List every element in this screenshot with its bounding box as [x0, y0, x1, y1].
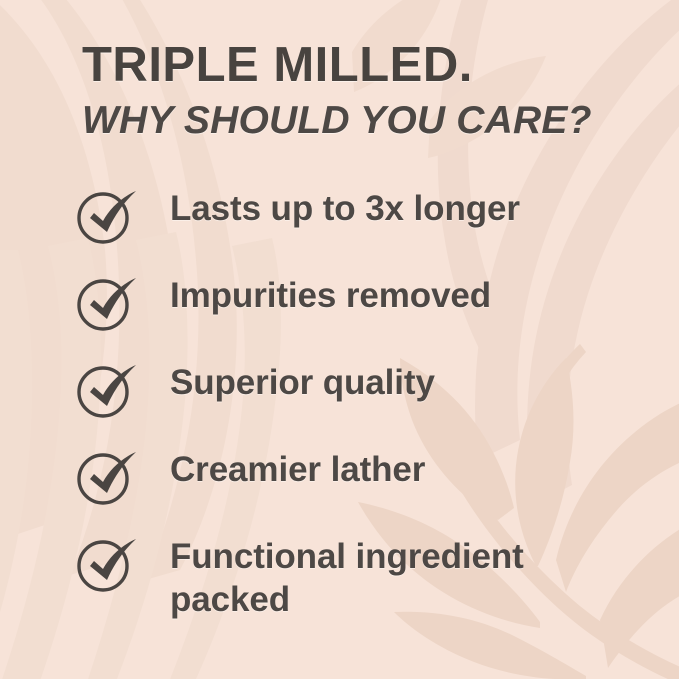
list-item: Superior quality	[74, 362, 674, 422]
check-circle-icon	[74, 446, 140, 508]
list-item-label: Superior quality	[170, 362, 435, 405]
list-item: Creamier lather	[74, 449, 674, 509]
check-circle-icon	[74, 185, 140, 247]
check-circle-icon	[74, 533, 140, 595]
check-circle-icon	[74, 272, 140, 334]
page-subtitle: WHY SHOULD YOU CARE?	[82, 101, 642, 142]
list-item-label: Creamier lather	[170, 449, 425, 492]
list-item: Impurities removed	[74, 275, 674, 335]
promo-poster: TRIPLE MILLED. WHY SHOULD YOU CARE? Last…	[0, 0, 679, 679]
check-circle-icon	[74, 359, 140, 421]
list-item-label: Functional ingredient packed	[170, 536, 640, 621]
benefit-list: Lasts up to 3x longer Impurities removed…	[74, 188, 674, 621]
page-title: TRIPLE MILLED.	[82, 40, 642, 91]
list-item: Functional ingredient packed	[74, 536, 674, 621]
list-item-label: Lasts up to 3x longer	[170, 188, 520, 231]
list-item: Lasts up to 3x longer	[74, 188, 674, 248]
headline-block: TRIPLE MILLED. WHY SHOULD YOU CARE?	[82, 40, 642, 142]
poster-content: TRIPLE MILLED. WHY SHOULD YOU CARE? Last…	[0, 0, 679, 679]
list-item-label: Impurities removed	[170, 275, 491, 318]
